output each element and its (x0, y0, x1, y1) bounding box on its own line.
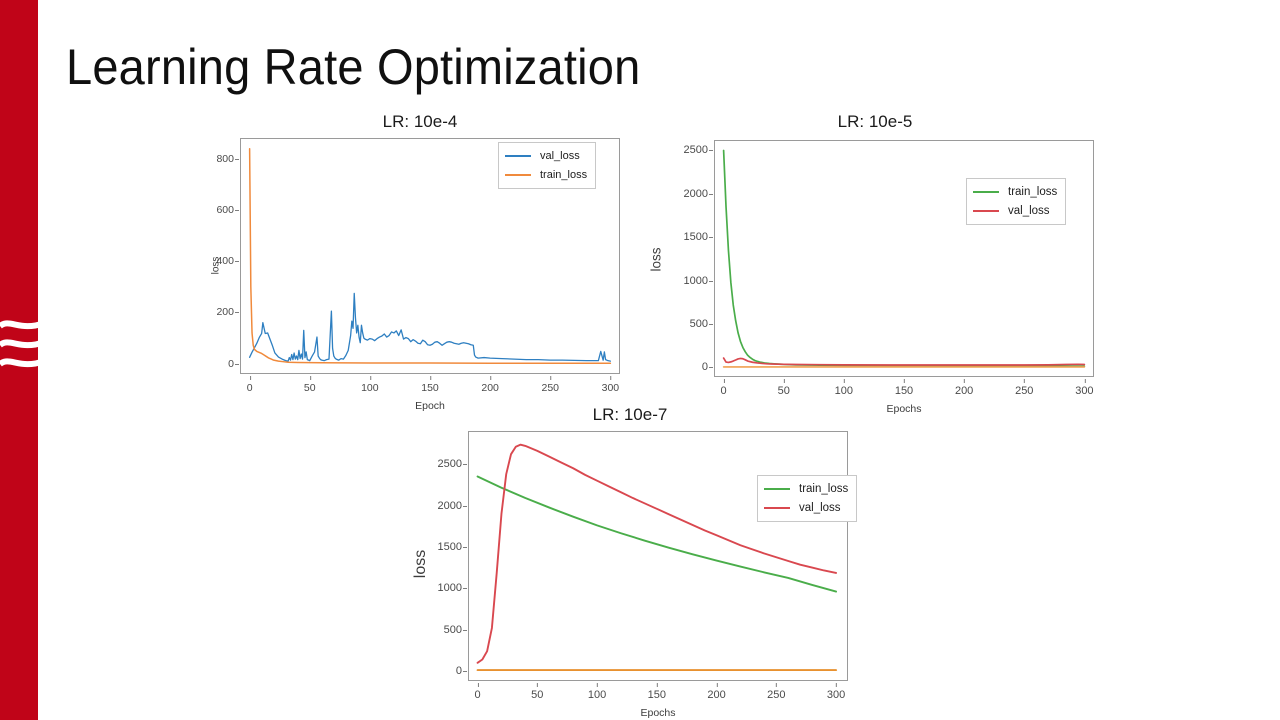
x-tick: 50 (531, 689, 543, 701)
x-tick: 250 (1015, 385, 1033, 397)
legend-item: val_loss (505, 148, 587, 164)
x-tick: 100 (835, 385, 853, 397)
x-tick: 100 (361, 382, 379, 394)
chart-title: LR: 10e-4 (200, 112, 640, 132)
chart-legend[interactable]: train_loss val_loss (757, 475, 857, 522)
x-tick: 300 (602, 382, 620, 394)
y-tick: 0 (670, 361, 708, 373)
x-tick: 200 (481, 382, 499, 394)
y-tick: 200 (206, 306, 234, 318)
y-tick: 500 (670, 318, 708, 330)
legend-item: train_loss (973, 184, 1057, 200)
legend-label: train_loss (799, 483, 848, 495)
legend-label: train_loss (1008, 186, 1057, 198)
x-tick: 200 (955, 385, 973, 397)
x-tick: 50 (304, 382, 316, 394)
x-tick: 300 (1075, 385, 1093, 397)
y-tick: 600 (206, 204, 234, 216)
chart-lr-10e-5: LR: 10e-5 loss 0 500 1000 1500 2000 2500… (640, 112, 1110, 420)
y-tick: 2500 (670, 144, 708, 156)
legend-swatch-train-loss (973, 191, 999, 193)
x-tick: 200 (707, 689, 725, 701)
y-tick: 1500 (424, 541, 462, 553)
legend-item: train_loss (505, 167, 587, 183)
y-tick: 1500 (670, 231, 708, 243)
legend-item: val_loss (973, 203, 1057, 219)
y-tick: 2000 (424, 500, 462, 512)
series-lines (714, 140, 1094, 377)
legend-swatch-val-loss (764, 507, 790, 509)
legend-label: val_loss (1008, 205, 1050, 217)
x-tick: 150 (421, 382, 439, 394)
y-tick: 0 (424, 665, 462, 677)
x-tick: 0 (247, 382, 253, 394)
legend-label: val_loss (799, 502, 841, 514)
series-val_loss (250, 293, 611, 361)
plot-area: 0 200 400 600 800 0 50 100 150 200 250 3… (240, 138, 620, 374)
legend-item: val_loss (764, 500, 848, 516)
x-tick: 100 (588, 689, 606, 701)
x-tick: 250 (541, 382, 559, 394)
series-val_loss (724, 358, 1085, 365)
x-tick: 0 (721, 385, 727, 397)
series-lines (468, 431, 848, 681)
chart-legend[interactable]: train_loss val_loss (966, 178, 1066, 225)
plot-area: 0 500 1000 1500 2000 2500 0 50 100 150 2… (468, 431, 848, 681)
y-tick: 0 (206, 358, 234, 370)
wavy-lines-logo-icon (0, 316, 44, 382)
chart-lr-10e-4: LR: 10e-4 loss 0 200 400 600 800 0 50 10… (200, 112, 640, 420)
y-tick: 1000 (670, 275, 708, 287)
y-axis-label: loss (649, 235, 664, 285)
x-tick: 0 (474, 689, 480, 701)
legend-item: train_loss (764, 481, 848, 497)
chart-title: LR: 10e-5 (640, 112, 1110, 132)
y-tick: 800 (206, 153, 234, 165)
legend-swatch-train-loss (505, 174, 531, 176)
y-tick: 500 (424, 624, 462, 636)
x-tick: 250 (767, 689, 785, 701)
legend-label: train_loss (540, 169, 587, 181)
y-tick: 400 (206, 255, 234, 267)
x-tick: 300 (827, 689, 845, 701)
page-title: Learning Rate Optimization (66, 42, 640, 92)
legend-swatch-val-loss (973, 210, 999, 212)
y-tick: 2000 (670, 188, 708, 200)
legend-swatch-val-loss (505, 155, 531, 157)
x-axis-label: Epochs (468, 707, 848, 719)
x-tick: 50 (778, 385, 790, 397)
y-tick: 2500 (424, 458, 462, 470)
y-tick: 1000 (424, 582, 462, 594)
x-tick: 150 (648, 689, 666, 701)
legend-label: val_loss (540, 150, 580, 162)
chart-legend[interactable]: val_loss train_loss (498, 142, 596, 189)
legend-swatch-train-loss (764, 488, 790, 490)
x-tick: 150 (895, 385, 913, 397)
chart-title: LR: 10e-7 (405, 405, 855, 425)
chart-lr-10e-7: LR: 10e-7 loss 0 500 1000 1500 2000 2500… (405, 405, 855, 720)
plot-area: 0 500 1000 1500 2000 2500 0 50 100 150 2… (714, 140, 1094, 377)
